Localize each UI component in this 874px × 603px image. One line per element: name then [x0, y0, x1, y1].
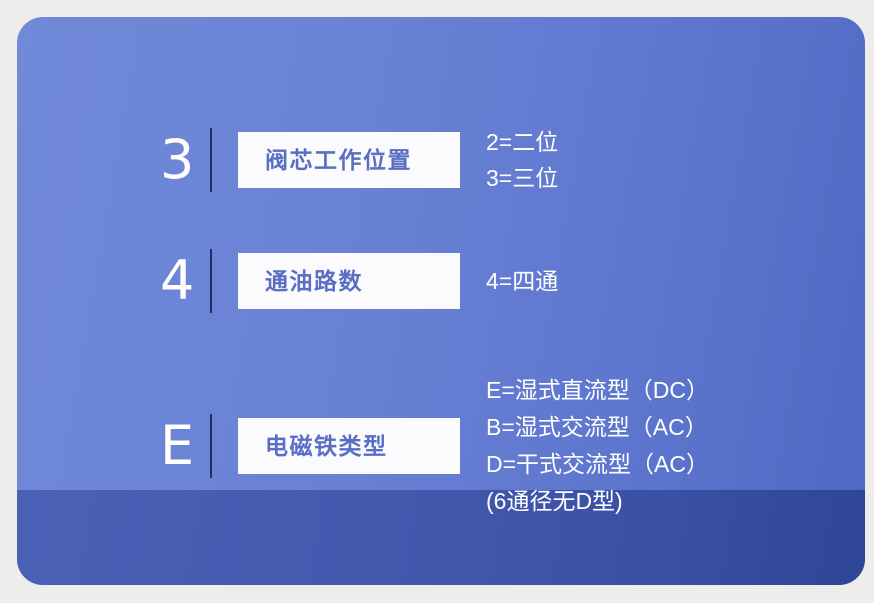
spec-row: 3 阀芯工作位置 2=二位 3=三位 — [160, 124, 558, 196]
spec-description-line: D=干式交流型（AC） — [486, 446, 709, 483]
spec-description-line: B=湿式交流型（AC） — [486, 409, 709, 446]
spec-row: 4 通油路数 4=四通 — [160, 249, 558, 313]
spec-label-text: 阀芯工作位置 — [265, 147, 412, 173]
spec-description-line: E=湿式直流型（DC） — [486, 372, 709, 409]
spec-description: 2=二位 3=三位 — [486, 124, 558, 196]
spec-divider — [210, 414, 212, 478]
spec-description: 4=四通 — [486, 263, 558, 299]
spec-description: E=湿式直流型（DC） B=湿式交流型（AC） D=干式交流型（AC） (6通径… — [486, 372, 709, 520]
spec-label-box: 电磁铁类型 — [238, 418, 460, 474]
spec-divider — [210, 128, 212, 192]
spec-card: 3 阀芯工作位置 2=二位 3=三位 4 通油路数 4=四通 E 电 — [17, 17, 865, 585]
spec-label-text: 电磁铁类型 — [265, 433, 388, 459]
spec-code: 4 — [160, 253, 210, 309]
spec-code: 3 — [160, 132, 210, 188]
spec-label-box: 通油路数 — [238, 253, 460, 309]
spec-label-text: 通油路数 — [265, 268, 363, 294]
spec-description-line: 4=四通 — [486, 263, 558, 299]
spec-description-line: 2=二位 — [486, 124, 558, 160]
spec-label-box: 阀芯工作位置 — [238, 132, 460, 188]
spec-code: E — [160, 418, 210, 474]
spec-divider — [210, 249, 212, 313]
spec-row: E 电磁铁类型 E=湿式直流型（DC） B=湿式交流型（AC） D=干式交流型（… — [160, 372, 709, 520]
spec-description-line: (6通径无D型) — [486, 483, 709, 520]
spec-description-line: 3=三位 — [486, 160, 558, 196]
